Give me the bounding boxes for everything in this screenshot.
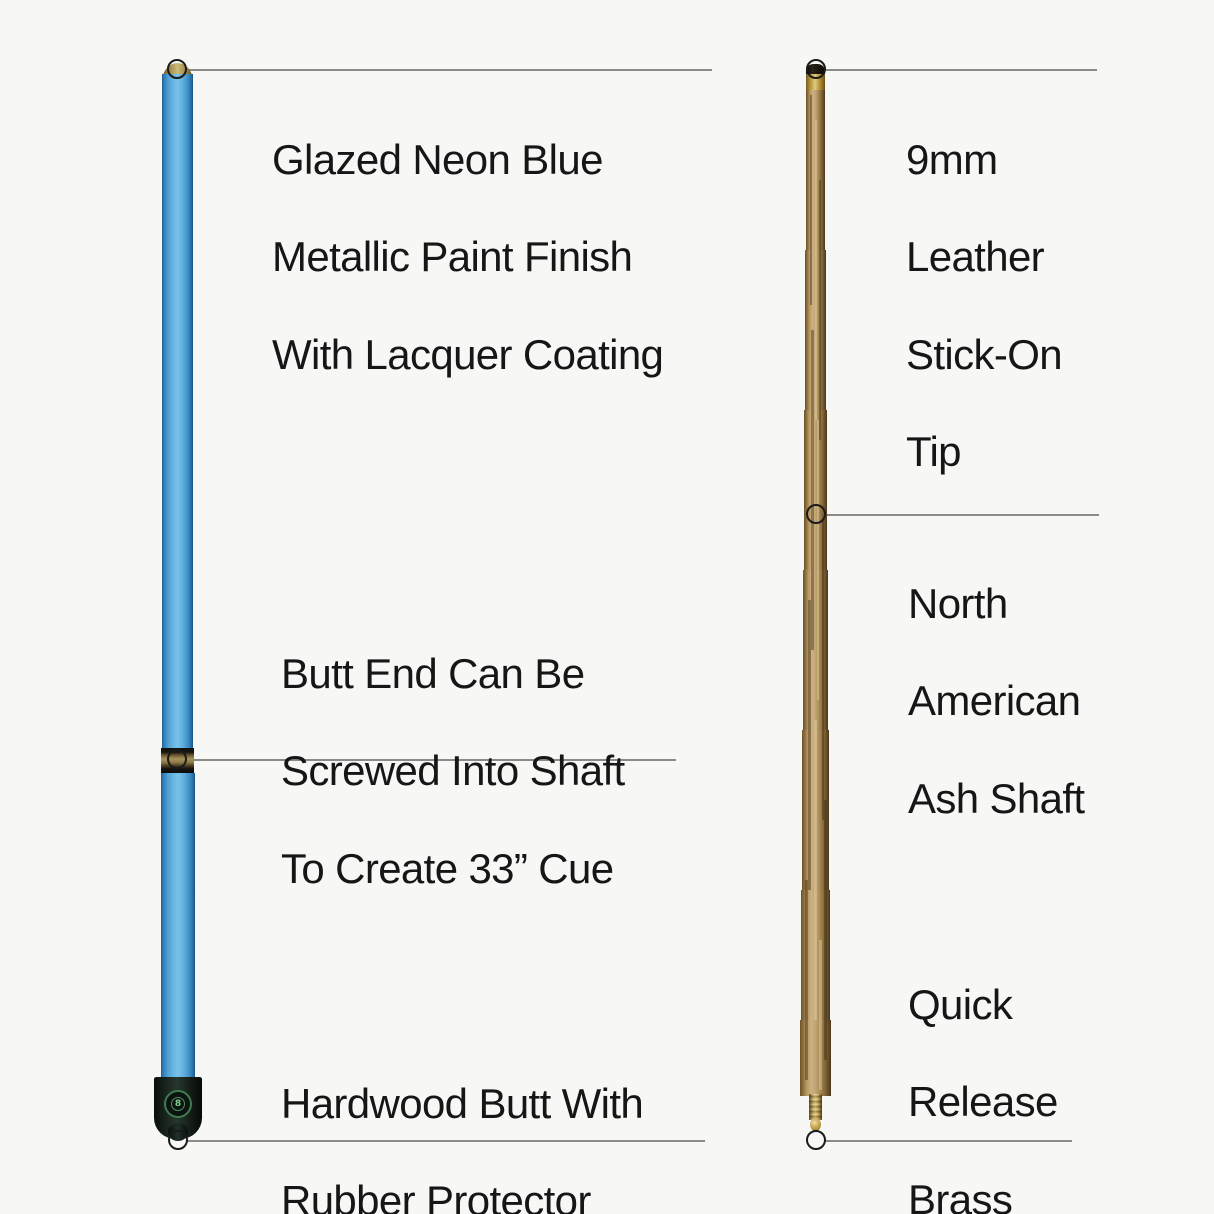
wood-grain-streak bbox=[822, 520, 824, 820]
brass-threaded-joint[interactable] bbox=[809, 1094, 822, 1120]
wood-grain-streak bbox=[819, 180, 821, 440]
wood-grain-streak bbox=[817, 420, 819, 700]
marker-hardwood-butt[interactable] bbox=[168, 1130, 188, 1150]
wood-grain-streak bbox=[819, 940, 822, 1090]
marker-leather-tip[interactable] bbox=[806, 59, 826, 79]
wood-grain-streak bbox=[815, 120, 817, 420]
marker-brass-joint[interactable] bbox=[806, 1130, 826, 1150]
wood-grain-streak bbox=[824, 800, 827, 1060]
wood-grain-streak bbox=[811, 330, 814, 650]
ash-cue-shaft[interactable] bbox=[0, 0, 1214, 1214]
wood-grain-streak bbox=[805, 880, 808, 1080]
marker-ash-shaft[interactable] bbox=[806, 504, 826, 524]
wood-grain-streak bbox=[808, 600, 811, 890]
wood-grain-streak bbox=[814, 720, 817, 1020]
cue-feature-diagram: 8 bbox=[0, 0, 1214, 1214]
ash-wood-shaft-s4 bbox=[803, 570, 828, 730]
wood-grain-streak bbox=[810, 95, 812, 305]
marker-screw-joint[interactable] bbox=[167, 749, 187, 769]
marker-paint-finish[interactable] bbox=[167, 59, 187, 79]
